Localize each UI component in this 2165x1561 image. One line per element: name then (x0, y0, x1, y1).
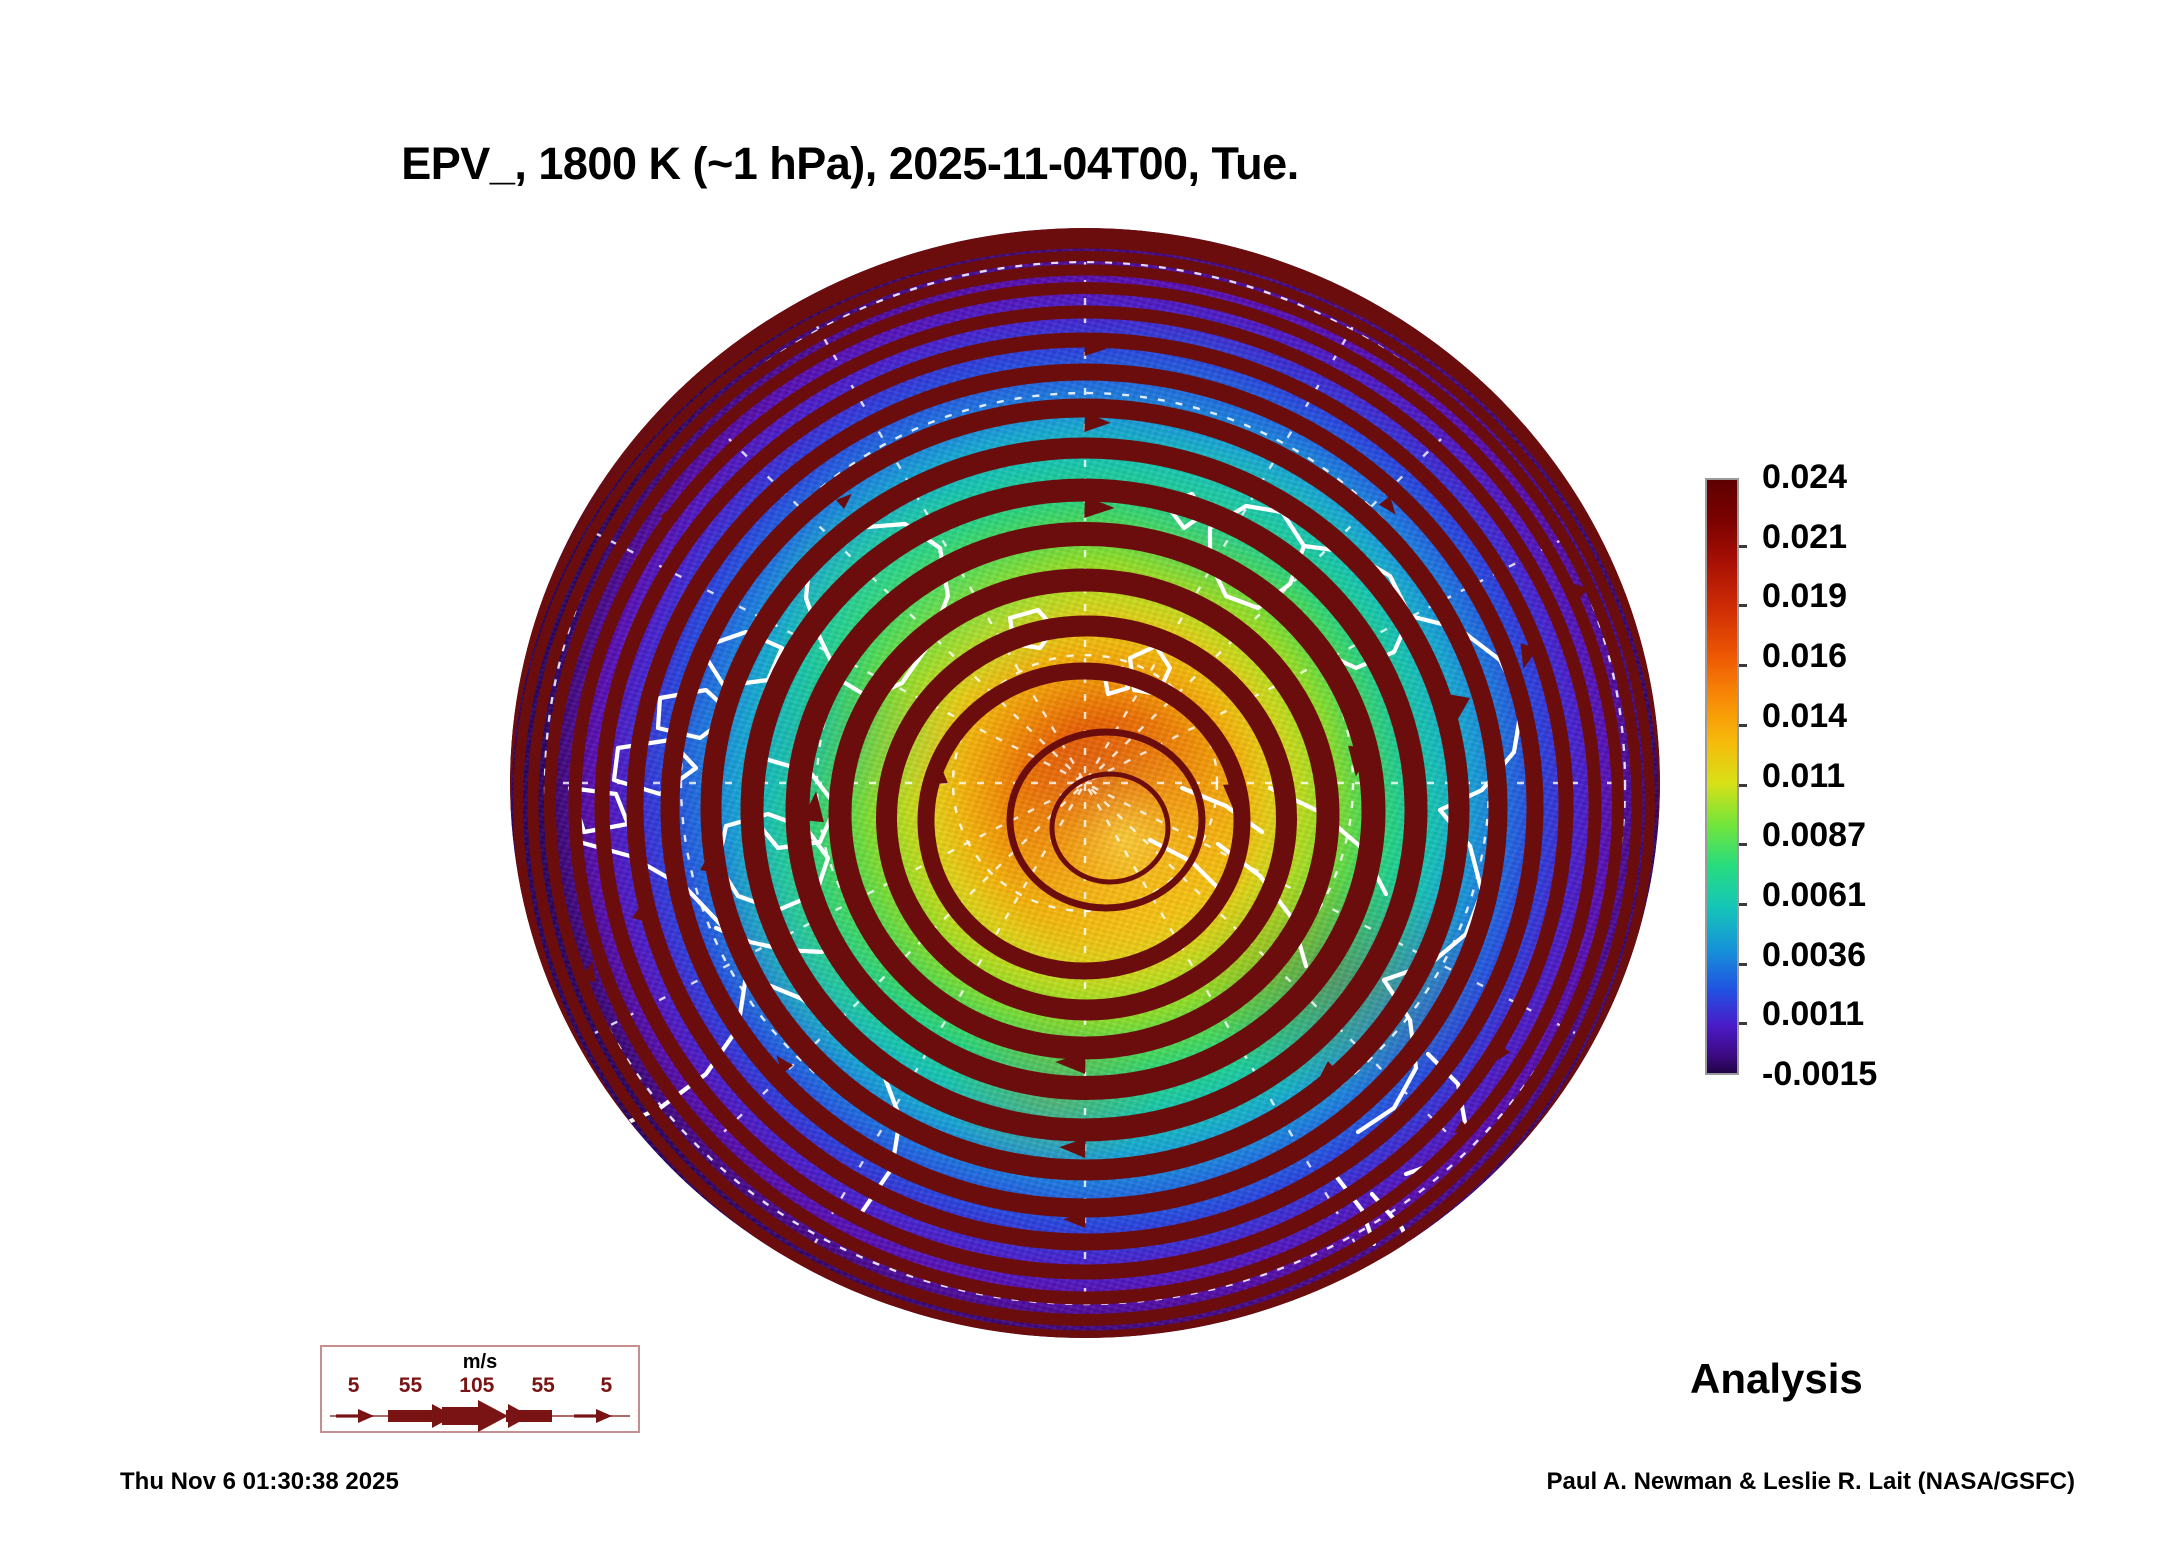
colorbar-tick-mark (1739, 903, 1747, 906)
wind-legend-value: 5 (601, 1374, 613, 1398)
colorbar-tick-label: 0.016 (1762, 639, 1847, 673)
polar-map-panel (510, 228, 1660, 1338)
colorbar: 0.0240.0210.0190.0160.0140.0110.00870.00… (1700, 470, 2120, 1090)
colorbar-tick-mark (1739, 724, 1747, 727)
colorbar-tick-label: 0.019 (1762, 579, 1847, 613)
attribution: Paul A. Newman & Leslie R. Lait (NASA/GS… (1546, 1468, 2075, 1496)
polar-stereographic-map (510, 228, 1660, 1338)
colorbar-tick-label: 0.0011 (1762, 997, 1864, 1031)
wind-legend-value: 105 (459, 1374, 494, 1398)
colorbar-tick-label: 0.0061 (1762, 878, 1866, 912)
colorbar-tick-label: 0.011 (1762, 759, 1845, 793)
page-title: EPV_, 1800 K (~1 hPa), 2025-11-04T00, Tu… (0, 138, 1700, 190)
colorbar-tick-label: 0.024 (1762, 460, 1847, 494)
colorbar-tick-label: 0.021 (1762, 520, 1847, 554)
colorbar-gradient (1705, 478, 1739, 1075)
colorbar-tick-label: 0.0087 (1762, 818, 1866, 852)
wind-legend-value: 55 (399, 1374, 422, 1398)
colorbar-tick-mark (1739, 843, 1747, 846)
generation-timestamp: Thu Nov 6 01:30:38 2025 (120, 1468, 399, 1496)
colorbar-ticks (1739, 478, 1749, 1075)
analysis-label: Analysis (1690, 1355, 1863, 1403)
wind-legend-value: 55 (532, 1374, 555, 1398)
colorbar-tick-label: -0.0015 (1762, 1057, 1877, 1091)
wind-legend-value: 5 (348, 1374, 360, 1398)
colorbar-tick-mark (1739, 784, 1747, 787)
colorbar-tick-label: 0.0036 (1762, 938, 1866, 972)
colorbar-tick-mark (1739, 664, 1747, 667)
colorbar-tick-mark (1739, 545, 1747, 548)
colorbar-labels: 0.0240.0210.0190.0160.0140.0110.00870.00… (1762, 470, 2102, 1090)
colorbar-tick-label: 0.014 (1762, 699, 1847, 733)
colorbar-tick-mark (1739, 604, 1747, 607)
wind-legend-values: 555105555 (322, 1374, 638, 1398)
wind-legend-unit-label: m/s (322, 1351, 638, 1374)
wind-streamlines (510, 228, 1660, 1338)
wind-speed-legend: m/s 555105555 (320, 1345, 640, 1433)
colorbar-tick-mark (1739, 1022, 1747, 1025)
wind-legend-arrows (322, 1399, 638, 1433)
colorbar-tick-mark (1739, 963, 1747, 966)
